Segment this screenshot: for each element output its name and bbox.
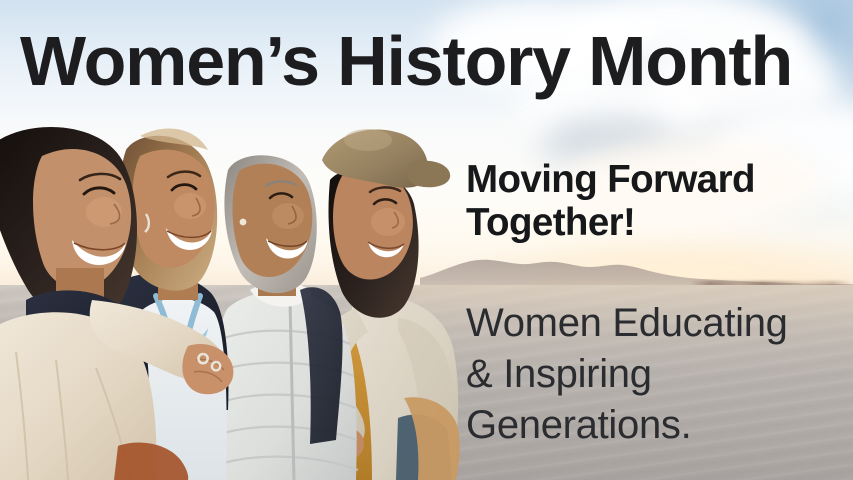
subheadline-line-2: Together! [466,201,755,244]
tagline-line-1: Women Educating [466,298,788,349]
tagline: Women Educating & Inspiring Generations. [466,298,788,452]
womens-history-month-banner: Women’s History Month Moving Forward Tog… [0,0,853,480]
subheadline-line-1: Moving Forward [466,158,755,201]
subheadline: Moving Forward Together! [466,158,755,244]
tagline-line-3: Generations. [466,400,788,451]
tagline-line-2: & Inspiring [466,349,788,400]
page-title: Women’s History Month [20,26,792,96]
